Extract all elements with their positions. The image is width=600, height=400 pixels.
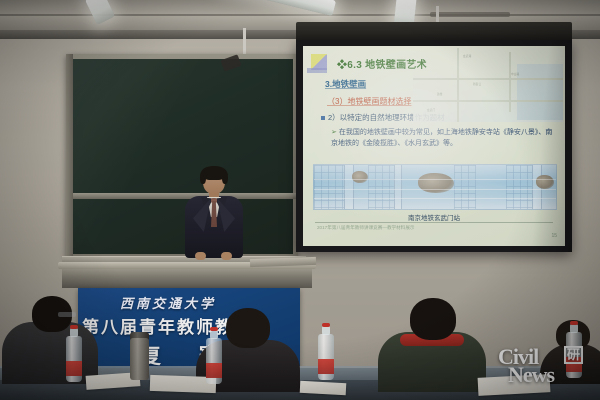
mural-panel-divider: [344, 165, 354, 209]
bottle-label: [318, 359, 334, 374]
presenter-hand: [221, 252, 232, 260]
water-bottle: [66, 336, 82, 382]
thermos-flask: [130, 338, 149, 380]
mural-rock-motif: [536, 175, 554, 189]
presenter-hair-side: [222, 171, 228, 184]
map-road: [413, 78, 563, 80]
map-label: 鼓楼: [437, 92, 443, 96]
map-label: 新街口: [473, 82, 481, 86]
mural-wave-line: [314, 198, 556, 199]
mural-rock-motif: [352, 171, 368, 183]
presenter-hand: [195, 252, 206, 260]
mural-grid-panel: [314, 165, 344, 209]
mural-panel-divider: [394, 165, 402, 209]
presenter-hair-side: [200, 171, 206, 184]
paper-stack: [300, 381, 347, 395]
slide-title-underbar: [307, 68, 327, 73]
chalkboard-left-edge: [66, 54, 73, 259]
water-bottle: [318, 334, 334, 380]
presentation-slide: 玄武湖 新街口 鼓楼 中山路 玄武门 ❖6.3 地铁壁画艺术 3.地铁壁画 （3…: [303, 46, 565, 246]
water-bottle: [206, 338, 222, 384]
lectern-body: [62, 266, 312, 288]
mural-grid-panel: [368, 165, 394, 209]
map-water-area: [517, 64, 563, 120]
slide-page-number: 15: [551, 233, 557, 239]
mural-grid-panel: [506, 165, 532, 209]
square-bullet-icon: [321, 116, 325, 120]
audience-head: [410, 298, 456, 340]
map-label: 玄武门: [427, 108, 435, 112]
arrow-bullet-icon: ➢: [331, 129, 337, 136]
bottle-label: [66, 361, 82, 376]
watermark-logo: Civil News 研: [492, 342, 596, 392]
ceiling-hanger: [436, 6, 439, 22]
watermark-line-2: News: [508, 362, 554, 388]
bottle-label: [206, 363, 222, 378]
map-road: [413, 100, 563, 102]
slide-bullet-secondary-text: 在我国的地铁壁画中较为常见，如上海地铁静安寺站《静安八景》、南京地铁的《金陵揽胜…: [331, 129, 552, 147]
slide-footer-text: 2017年第八届青年教师讲课竞赛—教学材料展示: [317, 225, 415, 231]
slide-mural-image: [313, 164, 557, 210]
mural-wave-line: [314, 179, 556, 180]
slide-image-caption: 南京地铁玄武门站: [303, 212, 565, 222]
audience-head: [226, 308, 270, 348]
ceiling-fixture: [430, 12, 510, 17]
audience-member-judge-left: [2, 296, 98, 382]
slide-title: ❖6.3 地铁壁画艺术: [337, 56, 557, 71]
ceiling-seam: [0, 14, 600, 16]
lecture-hall-photo: 玄武湖 新街口 鼓楼 中山路 玄武门 ❖6.3 地铁壁画艺术 3.地铁壁画 （3…: [0, 0, 600, 400]
mural-rock-motif: [418, 173, 454, 193]
audience-member-judge-right: [378, 298, 486, 390]
eyeglasses: [58, 312, 76, 317]
slide-bullet-secondary: ➢在我国的地铁壁画中较为常见，如上海地铁静安寺站《静安八景》、南京地铁的《金陵揽…: [331, 128, 557, 149]
mural-grid-panel: [454, 165, 476, 209]
slide-footer-rule: [315, 222, 553, 223]
mural-wave-line: [314, 189, 556, 190]
projection-screen: 玄武湖 新街口 鼓楼 中山路 玄武门 ❖6.3 地铁壁画艺术 3.地铁壁画 （3…: [303, 46, 565, 246]
presenter: [183, 168, 245, 264]
map-label: 中山路: [511, 72, 519, 76]
watermark-badge: 研: [564, 346, 583, 364]
chalkboard-divider: [66, 193, 298, 199]
